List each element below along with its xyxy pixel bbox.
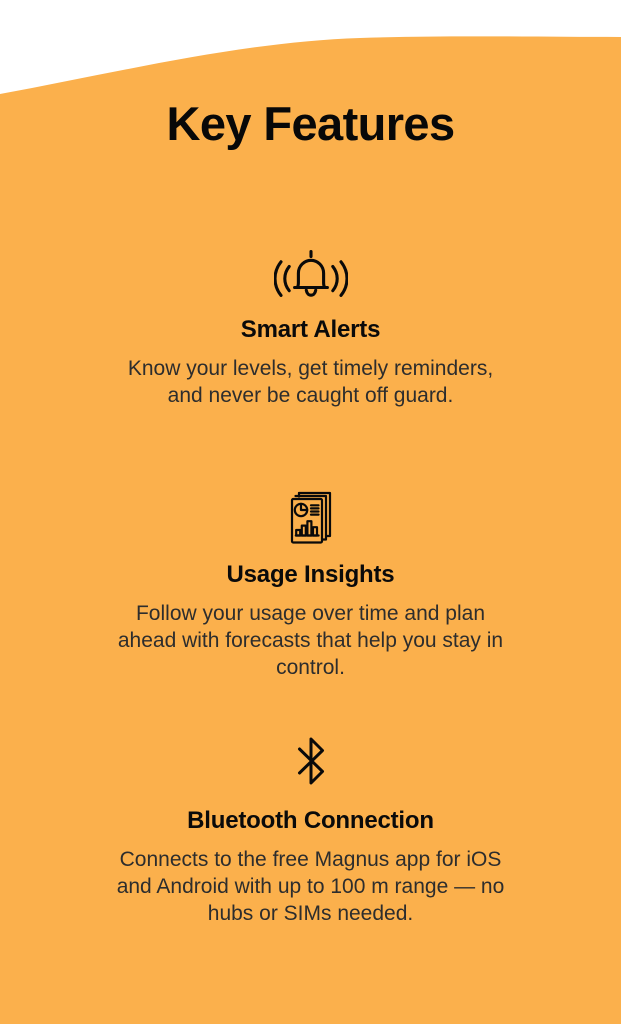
feature-icon-wrapper [0,486,621,548]
feature-icon-wrapper [0,243,621,305]
report-documents-icon [286,488,336,546]
feature-description-bluetooth-connection: Connects to the free Magnus app for iOS … [109,846,513,927]
bell-ringing-icon [274,245,348,303]
key-features-page: Key Features [0,0,621,1024]
feature-title-bluetooth-connection: Bluetooth Connection [0,806,621,836]
feature-item-usage-insights: Usage Insights Follow your usage over ti… [0,486,621,681]
feature-description-usage-insights: Follow your usage over time and plan ahe… [109,600,513,681]
feature-title-usage-insights: Usage Insights [0,560,621,590]
feature-icon-wrapper [0,730,621,792]
page-title: Key Features [0,96,621,152]
feature-item-bluetooth-connection: Bluetooth Connection Connects to the fre… [0,730,621,927]
feature-item-smart-alerts: Smart Alerts Know your levels, get timel… [0,243,621,409]
feature-title-smart-alerts: Smart Alerts [0,315,621,345]
feature-description-smart-alerts: Know your levels, get timely reminders, … [115,355,507,409]
bluetooth-icon [294,733,328,789]
